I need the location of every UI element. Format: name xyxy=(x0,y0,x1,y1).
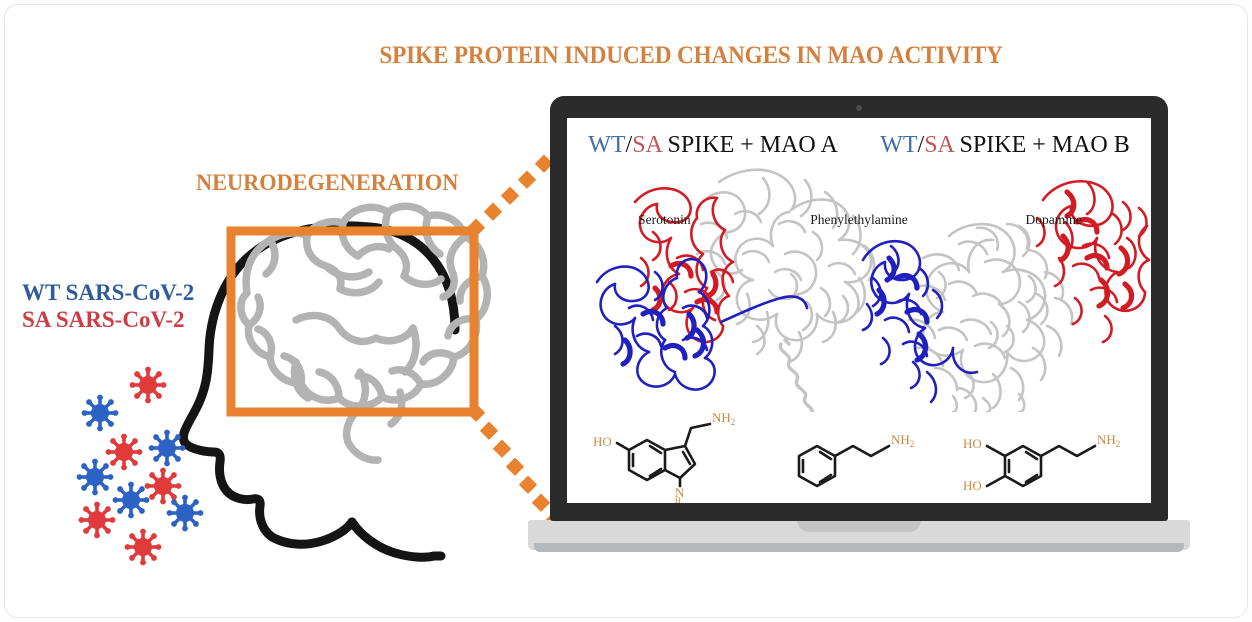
header-sa-token: SA xyxy=(924,132,953,158)
header-sa-token: SA xyxy=(632,132,661,158)
dopamine-structure xyxy=(987,446,1095,486)
header-wt-token: WT xyxy=(588,132,625,158)
panel-header-mao-a: WT/SA SPIKE + MAO A xyxy=(567,132,859,159)
serotonin-nh2-label: NH2 xyxy=(712,410,735,427)
molecule-name-dopamine: Dopamine xyxy=(956,212,1151,228)
laptop-base-lip xyxy=(534,543,1184,552)
serotonin-structure xyxy=(617,424,710,486)
molecule-name-serotonin: Serotonin xyxy=(567,212,762,228)
webcam-icon xyxy=(856,105,862,111)
graphical-abstract-canvas: SPIKE PROTEIN INDUCED CHANGES IN MAO ACT… xyxy=(0,0,1252,622)
serotonin-nh-h-label: H xyxy=(675,496,681,503)
neurotransmitter-structures-layer: HO N H NH2 NH2 xyxy=(567,398,1151,503)
panel-header-mao-b: WT/SA SPIKE + MAO B xyxy=(859,132,1151,159)
header-rest: SPIKE + MAO A xyxy=(662,132,838,158)
dopamine-ho-top-label: HO xyxy=(963,436,982,451)
molecule-name-row: Serotonin Phenylethylamine Dopamine xyxy=(567,212,1151,228)
molecule-name-phenylethylamine: Phenylethylamine xyxy=(762,212,957,228)
header-wt-token: WT xyxy=(880,132,917,158)
laptop-base-notch xyxy=(797,520,921,532)
virus-strain-labels: WT SARS-CoV-2 SA SARS-CoV-2 xyxy=(22,280,194,334)
serotonin-ho-label: HO xyxy=(593,434,612,449)
mao-a-spike-complex-ribbon xyxy=(597,170,874,412)
panel-header-row: WT/SA SPIKE + MAO A WT/SA SPIKE + MAO B xyxy=(567,132,1151,159)
phenylethylamine-structure xyxy=(799,446,889,486)
laptop-screen: WT/SA SPIKE + MAO A WT/SA SPIKE + MAO B xyxy=(567,118,1151,503)
phenylethylamine-nh2-label: NH2 xyxy=(891,432,914,449)
dopamine-ho-bottom-label: HO xyxy=(963,478,982,493)
protein-structures-layer xyxy=(567,162,1151,412)
virus-label-wt: WT SARS-CoV-2 xyxy=(22,280,194,307)
laptop-illustration: WT/SA SPIKE + MAO A WT/SA SPIKE + MAO B xyxy=(528,96,1190,571)
header-rest: SPIKE + MAO B xyxy=(954,132,1130,158)
page-title: SPIKE PROTEIN INDUCED CHANGES IN MAO ACT… xyxy=(44,42,1208,70)
virus-label-sa: SA SARS-CoV-2 xyxy=(22,307,194,334)
dopamine-nh2-label: NH2 xyxy=(1097,432,1120,449)
laptop-lid: WT/SA SPIKE + MAO A WT/SA SPIKE + MAO B xyxy=(550,96,1168,521)
neurodegeneration-label: NEURODEGENERATION xyxy=(196,170,458,196)
